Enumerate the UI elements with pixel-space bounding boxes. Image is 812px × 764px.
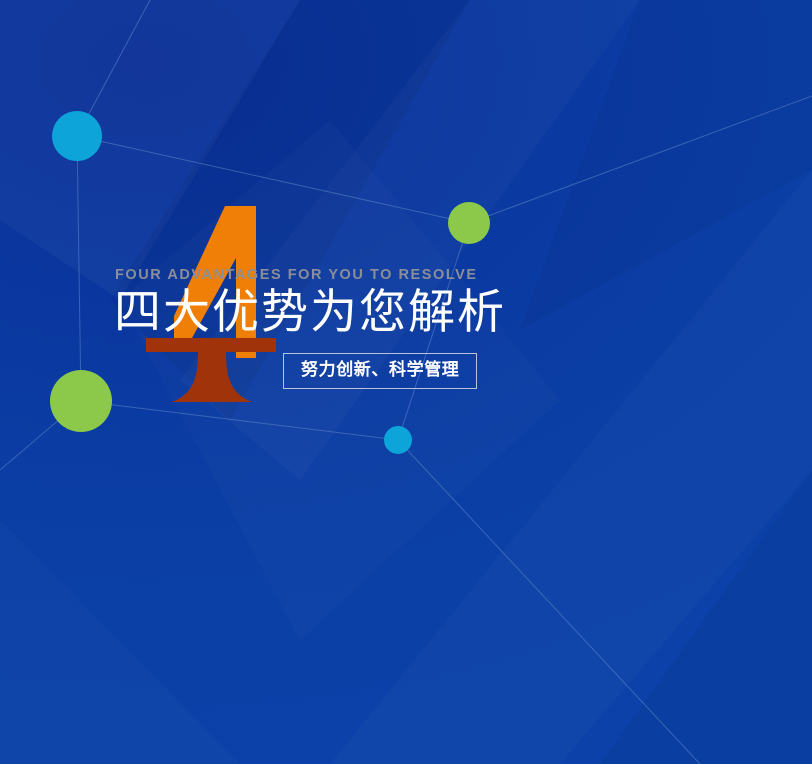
eyebrow-text: FOUR ADVANTAGES FOR YOU TO RESOLVE [115,268,674,283]
node-cyan-top-left [52,111,102,161]
promo-banner: FOUR ADVANTAGES FOR YOU TO RESOLVE 四大优势为… [0,0,812,764]
node-green-bottom-left [50,370,112,432]
link-cyan-bottom-outward [398,440,700,764]
tagline-badge: 努力创新、科学管理 [283,353,477,389]
node-cyan-bottom [384,426,412,454]
tagline-row: 努力创新、科学管理 [114,353,674,389]
link-topleft-to-green-bottom [77,136,81,401]
link-green-right-outward [469,96,812,223]
page-title: 四大优势为您解析 [114,289,674,338]
node-green-right [448,202,490,244]
headline-block: FOUR ADVANTAGES FOR YOU TO RESOLVE 四大优势为… [114,268,674,389]
